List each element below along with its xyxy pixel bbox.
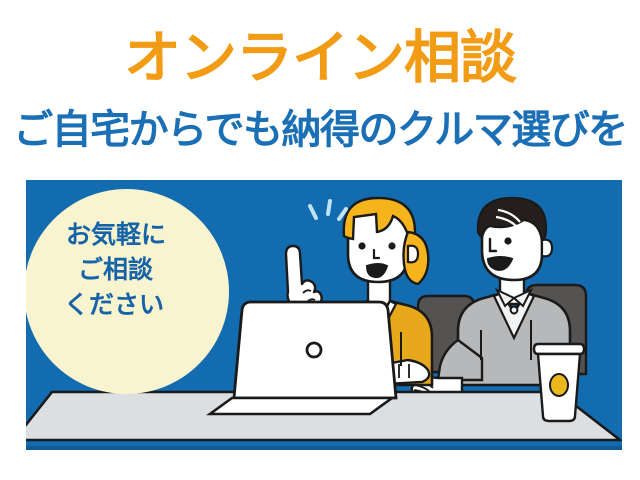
- laptop-icon: [210, 302, 396, 414]
- badge-line-1: お気軽に: [66, 218, 228, 253]
- page-title: オンライン相談: [0, 26, 640, 90]
- online-consultation-banner: オンライン相談 ご自宅からでも納得のクルマ選びを: [0, 0, 640, 480]
- coffee-cup-icon: [534, 344, 584, 421]
- sparkle-icon: [310, 201, 346, 219]
- badge-line-3: ください: [64, 288, 228, 323]
- panel-bottom-rule: [26, 446, 622, 450]
- page-subtitle: ご自宅からでも納得のクルマ選びを: [0, 105, 640, 155]
- badge-line-2: ご相談: [78, 253, 228, 288]
- illustration-panel: お気軽に ご相談 ください: [26, 180, 622, 450]
- badge-text: お気軽に ご相談 ください: [38, 218, 228, 323]
